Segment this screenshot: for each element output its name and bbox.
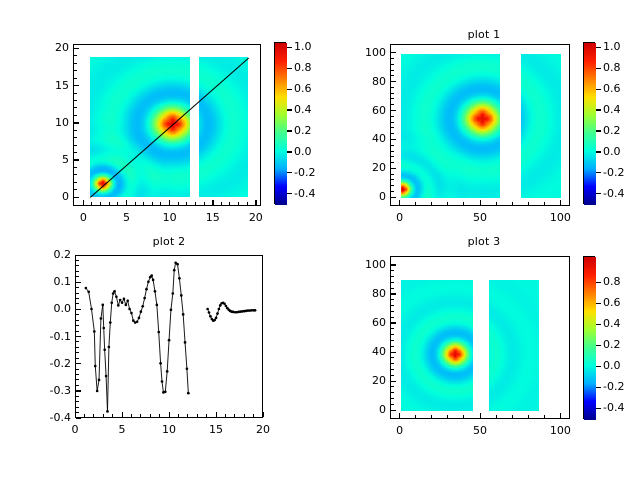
plot-2-yminor (76, 352, 79, 353)
plot-2-yminor (76, 314, 79, 315)
plot-3-yminor (391, 386, 394, 387)
plot-3-colorbar-tick (596, 303, 601, 304)
plot-1-ytick-label: 40 (348, 132, 386, 145)
plot-2-yminor (76, 396, 79, 397)
plot-0-ytick (74, 122, 79, 123)
plot-0-xtick-label: 10 (150, 211, 190, 224)
plot-3-yminor (391, 340, 394, 341)
plot-3-axes[interactable] (390, 256, 570, 419)
plot-1-yminor (391, 185, 394, 186)
plot-0-ytick (74, 197, 79, 198)
plot-0-ytick (74, 85, 79, 86)
plot-2-xminor (159, 414, 160, 417)
plot-1-ytick-label: 60 (348, 104, 386, 117)
plot-1-yminor (391, 145, 394, 146)
plot-1-xminor (431, 202, 432, 205)
plot-0-xtick-label: 5 (106, 211, 146, 224)
plot-2-ytick (76, 282, 81, 283)
plot-2-line-canvas (76, 256, 263, 418)
plot-2-yminor (76, 374, 79, 375)
plot-3-ytick (391, 381, 396, 382)
plot-3-xtick-label: 50 (460, 424, 500, 437)
plot-1-xminor (415, 202, 416, 205)
plot-0-ytick (74, 48, 79, 49)
plot-0-xminor (178, 202, 179, 205)
plot-1-xtick-label: 50 (460, 211, 500, 224)
plot-3-yminor (391, 299, 394, 300)
plot-2-ytick-label: -0.2 (33, 357, 71, 370)
plot-1-yminor (391, 116, 394, 117)
plot-1-ytick (391, 81, 396, 82)
plot-1-colorbar-tick (596, 89, 601, 90)
plot-3-yminor (391, 369, 394, 370)
plot-3-ytick (391, 322, 396, 323)
plot-1-xminor (463, 202, 464, 205)
plot-3-xminor (544, 415, 545, 418)
plot-1-xminor (512, 202, 513, 205)
plot-1-ytick (391, 139, 396, 140)
plot-1-colorbar-tick (596, 172, 601, 173)
plot-0-colorbar-tick (287, 109, 292, 110)
plot-0-xminor (238, 202, 239, 205)
plot-1-colorbar-label: 0.0 (603, 145, 621, 158)
plot-1-colorbar-tick (596, 68, 601, 69)
plot-2-xtick (216, 412, 217, 417)
plot-0-xtick (169, 200, 170, 205)
plot-1-colorbar-tick (596, 151, 601, 152)
plot-2-yminor (76, 287, 79, 288)
plot-3-yminor (391, 270, 394, 271)
plot-1-yminor (391, 75, 394, 76)
plot-3-yminor (391, 404, 394, 405)
plot-0-yminor (74, 167, 77, 168)
plot-2-yminor (76, 379, 79, 380)
plot-1-ytick-label: 20 (348, 161, 386, 174)
plot-2-xtick (75, 412, 76, 417)
plot-0-yminor (74, 55, 77, 56)
plot-2-yminor (76, 265, 79, 266)
plot-3-xtick-label: 100 (540, 424, 580, 437)
plot-2-xtick-label: 20 (243, 423, 283, 436)
plot-1-colorbar-label: 0.6 (603, 82, 621, 95)
plot-2-yminor (76, 331, 79, 332)
plot-1-colorbar-label: 0.8 (603, 61, 621, 74)
plot-0-axes[interactable] (73, 44, 261, 206)
plot-0-colorbar-label: -0.4 (294, 187, 315, 200)
plot-2-yminor (76, 271, 79, 272)
plot-2-xminor (84, 414, 85, 417)
plot-2-yminor (76, 298, 79, 299)
plot-1-ytick (391, 168, 396, 169)
plot-0-colorbar-label: -0.2 (294, 166, 315, 179)
plot-3-ytick-label: 60 (348, 316, 386, 329)
plot-0-colorbar-label: 0.6 (294, 82, 312, 95)
plot-2-yminor (76, 303, 79, 304)
plot-1-yminor (391, 179, 394, 180)
plot-0-yminor (74, 100, 77, 101)
plot-3-title: plot 3 (390, 235, 578, 248)
plot-2-ytick-label: -0.3 (33, 384, 71, 397)
plot-1-yminor (391, 93, 394, 94)
plot-2-ytick-label: -0.1 (33, 330, 71, 343)
plot-0-xminor (109, 202, 110, 205)
plot-2-xtick (122, 412, 123, 417)
plot-3-colorbar-tick (596, 366, 601, 367)
plot-1-ytick-label: 80 (348, 75, 386, 88)
plot-2-ytick (76, 255, 81, 256)
plot-3-colorbar-tick (596, 345, 601, 346)
plot-1-axes[interactable] (390, 44, 570, 206)
plot-3-yminor (391, 363, 394, 364)
plot-0-colorbar-label: 0.2 (294, 124, 312, 137)
plot-0-colorbar-label: 0.8 (294, 61, 312, 74)
plot-3-yminor (391, 317, 394, 318)
plot-0-xminor (186, 202, 187, 205)
plot-0-colorbar-label: 1.0 (294, 40, 312, 53)
plot-2-ytick (76, 363, 81, 364)
plot-2-xminor (112, 414, 113, 417)
plot-2-xminor (178, 414, 179, 417)
plot-1-ytick-label: 100 (348, 46, 386, 59)
plot-0-xminor (221, 202, 222, 205)
plot-3-xtick (480, 413, 481, 418)
plot-0-ytick-label: 5 (31, 153, 69, 166)
plot-2-yminor (76, 401, 79, 402)
plot-0-colorbar-label: 0.4 (294, 103, 312, 116)
plot-2-xminor (253, 414, 254, 417)
plot-0-yminor (74, 152, 77, 153)
plot-1-patch-b (521, 54, 561, 198)
plot-3-yminor (391, 375, 394, 376)
plot-0-xminor (160, 202, 161, 205)
plot-2-ytick (76, 336, 81, 337)
plot-3-ytick-label: 20 (348, 374, 386, 387)
plot-0-yminor (74, 137, 77, 138)
plot-0-xtick-label: 20 (236, 211, 276, 224)
plot-1-ytick (391, 197, 396, 198)
plot-0-xtick (83, 200, 84, 205)
plot-3-patch-a (401, 280, 473, 411)
plot-2-yminor (76, 293, 79, 294)
plot-0-yminor (74, 189, 77, 190)
plot-1-yminor (391, 191, 394, 192)
plot-2-yminor (76, 358, 79, 359)
plot-3-xminor (528, 415, 529, 418)
plot-2-yminor (76, 407, 79, 408)
plot-1-colorbar-label: 0.4 (603, 103, 621, 116)
plot-0-yminor (74, 145, 77, 146)
plot-1-yminor (391, 174, 394, 175)
plot-1-yminor (391, 64, 394, 65)
plot-0-xminor (152, 202, 153, 205)
plot-2-xminor (187, 414, 188, 417)
plot-2-xminor (131, 414, 132, 417)
plot-0-xminor (204, 202, 205, 205)
plot-0-xtick (255, 200, 256, 205)
plot-1-colorbar-tick (596, 193, 601, 194)
plot-2-xminor (197, 414, 198, 417)
plot-0-xminor (247, 202, 248, 205)
plot-1-yminor (391, 87, 394, 88)
plot-3-colorbar-label: 0.6 (603, 296, 621, 309)
plot-1-yminor (391, 156, 394, 157)
plot-2-xminor (103, 414, 104, 417)
plot-2-yminor (76, 369, 79, 370)
plot-3-xminor (512, 415, 513, 418)
plot-3-colorbar-label: -0.4 (603, 401, 624, 414)
plot-2-xminor (206, 414, 207, 417)
plot-2-xtick-label: 5 (102, 423, 142, 436)
plot-1-yminor (391, 104, 394, 105)
plot-1-colorbar-tick (596, 47, 601, 48)
plot-0-yminor (74, 115, 77, 116)
plot-3-yminor (391, 288, 394, 289)
plot-0-colorbar-label: 0.0 (294, 145, 312, 158)
plot-1-xtick-label: 0 (380, 211, 420, 224)
plot-2-xminor (234, 414, 235, 417)
plot-2-xtick-label: 10 (149, 423, 189, 436)
plot-2-xminor (93, 414, 94, 417)
plot-0-ytick-label: 0 (31, 190, 69, 203)
plot-3-yminor (391, 328, 394, 329)
plot-2-yminor (76, 276, 79, 277)
plot-2-xminor (140, 414, 141, 417)
plot-2-xtick-label: 15 (196, 423, 236, 436)
plot-3-yminor (391, 357, 394, 358)
plot-3-yminor (391, 334, 394, 335)
plot-1-yminor (391, 151, 394, 152)
plot-2-yminor (76, 341, 79, 342)
plot-1-colorbar-label: 0.2 (603, 124, 621, 137)
plot-2-ytick-label: 0.2 (33, 248, 71, 261)
plot-3-ytick-label: 100 (348, 258, 386, 271)
plot-2-yminor (76, 260, 79, 261)
plot-1-yminor (391, 70, 394, 71)
plot-3-xminor (431, 415, 432, 418)
plot-3-colorbar-label: -0.2 (603, 380, 624, 393)
plot-3-colorbar-tick (596, 282, 601, 283)
plot-1-colorbar-label: -0.2 (603, 166, 624, 179)
plot-0-yminor (74, 174, 77, 175)
plot-1-yminor (391, 162, 394, 163)
plot-3-colorbar-gradient (584, 257, 596, 420)
plot-1-ytick (391, 52, 396, 53)
plot-3-ytick (391, 352, 396, 353)
plot-1-colorbar-tick (596, 109, 601, 110)
plot-0-colorbar[interactable] (274, 42, 286, 204)
plot-1-patch-a (401, 54, 500, 198)
plot-3-yminor (391, 311, 394, 312)
plot-0-yminor (74, 63, 77, 64)
plot-3-yminor (391, 282, 394, 283)
plot-2-xtick-label: 0 (55, 423, 95, 436)
plot-2-xminor (150, 414, 151, 417)
plot-2-ytick (76, 390, 81, 391)
plot-1-xminor (528, 202, 529, 205)
plot-3-yminor (391, 392, 394, 393)
plot-3-colorbar-label: 0.8 (603, 275, 621, 288)
plot-3-yminor (391, 276, 394, 277)
plot-2-yminor (76, 325, 79, 326)
plot-0-xminor (117, 202, 118, 205)
plot-0-ytick-label: 10 (31, 116, 69, 129)
plot-2-xminor (225, 414, 226, 417)
plot-1-colorbar-label: -0.4 (603, 187, 624, 200)
plot-0-xtick-label: 15 (193, 211, 233, 224)
plot-3-colorbar-tick (596, 387, 601, 388)
plot-3-xminor (415, 415, 416, 418)
plot-0-xminor (229, 202, 230, 205)
plot-0-xtick-label: 0 (63, 211, 103, 224)
plot-0-ytick-label: 20 (31, 41, 69, 54)
plot-1-yminor (391, 98, 394, 99)
plot-2-yminor (76, 347, 79, 348)
plot-1-colorbar[interactable] (583, 42, 595, 204)
plot-2-yminor (76, 412, 79, 413)
plot-3-colorbar-label: 0.2 (603, 338, 621, 351)
plot-3-ytick-label: 80 (348, 287, 386, 300)
plot-1-xtick-label: 100 (540, 211, 580, 224)
plot-0-xminor (143, 202, 144, 205)
plot-2-yminor (76, 385, 79, 386)
plot-2-ytick (76, 309, 81, 310)
plot-3-colorbar[interactable] (583, 256, 595, 419)
plot-3-xminor (463, 415, 464, 418)
plot-0-colorbar-gradient (275, 43, 287, 205)
plot-1-colorbar-label: 1.0 (603, 40, 621, 53)
plot-0-colorbar-tick (287, 89, 292, 90)
plot-1-yminor (391, 133, 394, 134)
plot-0-yminor (74, 78, 77, 79)
plot-0-xtick (212, 200, 213, 205)
plot-0-xtick (126, 200, 127, 205)
plot-0-ytick-label: 15 (31, 79, 69, 92)
plot-3-ytick (391, 264, 396, 265)
plot-1-yminor (391, 122, 394, 123)
plot-0-xminor (195, 202, 196, 205)
plot-3-xtick (399, 413, 400, 418)
plot-0-xminor (91, 202, 92, 205)
plot-0-yminor (74, 70, 77, 71)
plot-0-yminor (74, 130, 77, 131)
plot-0-colorbar-tick (287, 130, 292, 131)
plot-0-colorbar-tick (287, 193, 292, 194)
plot-0-colorbar-tick (287, 68, 292, 69)
plot-1-colorbar-tick (596, 130, 601, 131)
plot-1-xminor (496, 202, 497, 205)
plot-1-yminor (391, 58, 394, 59)
figure-canvas: 0510152005101520 -0.4-0.20.00.20.40.60.8… (0, 0, 640, 480)
plot-1-yminor (391, 127, 394, 128)
plot-2-title: plot 2 (75, 235, 263, 248)
plot-1-ytick-label: 0 (348, 190, 386, 203)
plot-3-ytick (391, 410, 396, 411)
plot-2-axes[interactable] (75, 255, 263, 418)
plot-2-yminor (76, 320, 79, 321)
plot-1-xminor (544, 202, 545, 205)
plot-0-yminor (74, 182, 77, 183)
plot-3-xminor (447, 415, 448, 418)
plot-0-xminor (100, 202, 101, 205)
plot-0-colorbar-tick (287, 151, 292, 152)
plot-1-xminor (447, 202, 448, 205)
plot-3-yminor (391, 398, 394, 399)
plot-3-colorbar-tick (596, 408, 601, 409)
plot-0-ytick (74, 159, 79, 160)
plot-0-colorbar-tick (287, 47, 292, 48)
plot-3-xminor (496, 415, 497, 418)
plot-3-patch-b (489, 280, 539, 411)
plot-2-xtick (263, 412, 264, 417)
plot-0-yminor (74, 93, 77, 94)
plot-3-xtick (560, 413, 561, 418)
plot-2-ytick-label: 0.1 (33, 275, 71, 288)
plot-1-xtick (480, 200, 481, 205)
plot-1-xtick (560, 200, 561, 205)
plot-3-yminor (391, 346, 394, 347)
plot-1-colorbar-gradient (584, 43, 596, 205)
plot-1-title: plot 1 (390, 28, 578, 41)
plot-1-ytick (391, 110, 396, 111)
plot-0-yminor (74, 107, 77, 108)
plot-3-ytick-label: 0 (348, 403, 386, 416)
plot-0-xminor (135, 202, 136, 205)
plot-3-ytick (391, 293, 396, 294)
plot-2-ytick-label: 0.0 (33, 302, 71, 315)
plot-3-xtick-label: 0 (380, 424, 420, 437)
plot-0-colorbar-tick (287, 172, 292, 173)
plot-3-colorbar-tick (596, 324, 601, 325)
plot-3-yminor (391, 305, 394, 306)
plot-2-xminor (244, 414, 245, 417)
plot-2-xtick (169, 412, 170, 417)
plot-3-ytick-label: 40 (348, 345, 386, 358)
plot-3-colorbar-label: 0.4 (603, 317, 621, 330)
plot-0-patch-a (90, 57, 190, 197)
plot-2-ytick (76, 418, 81, 419)
plot-1-xtick (399, 200, 400, 205)
plot-3-colorbar-label: 0.0 (603, 359, 621, 372)
